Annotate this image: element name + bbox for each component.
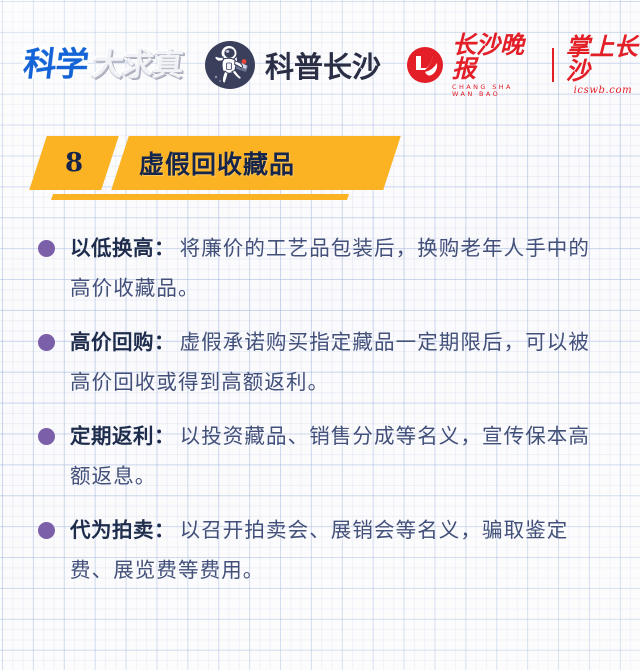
header-logo-bar: 科学 大求真 [0, 34, 640, 96]
list-item-colon: ： [154, 424, 176, 448]
app-url: icswb.com [574, 86, 633, 96]
astronaut-icon [203, 38, 257, 92]
logo-kexue-white-text: 大求真 [90, 39, 186, 84]
list-item-text: 代为拍卖：以召开拍卖会、展销会等名义，骗取鉴定费、展览费等费用。 [70, 518, 568, 582]
newspaper-pinyin: CHANG SHA WAN BAO [452, 84, 540, 97]
app-chinese-name: 掌上长沙 [566, 35, 640, 83]
list-item-colon: ： [154, 236, 176, 260]
page-title: 虚假回收藏品 [125, 136, 397, 190]
list-item-label: 代为拍卖 [70, 518, 154, 542]
bullet-dot-icon [38, 240, 55, 257]
logo-kexue-blue-text: 科学 [21, 37, 91, 85]
app-name-block: 掌上长沙 icswb.com [566, 35, 640, 96]
newspaper-chinese-name: 长沙晚报 [452, 33, 540, 81]
list-item: 定期返利：以投资藏品、销售分成等名义，宣传保本高额返息。 [0, 416, 640, 496]
logo-kexue-daqiuzhen: 科学 大求真 [24, 38, 183, 84]
list-item-text: 高价回购：虚假承诺购买指定藏品一定期限后，可以被高价回收或得到高额返利。 [70, 330, 590, 394]
changsha-wanbao-mark-icon [405, 45, 445, 85]
list-item-label: 高价回购 [70, 330, 154, 354]
list-item-text: 以低换高：将廉价的工艺品包装后，换购老年人手中的高价收藏品。 [70, 236, 590, 300]
tactics-list: 以低换高：将廉价的工艺品包装后，换购老年人手中的高价收藏品。 高价回购：虚假承诺… [0, 228, 640, 604]
list-item-label: 定期返利 [70, 424, 154, 448]
newspaper-name-block: 长沙晚报 CHANG SHA WAN BAO [452, 33, 540, 97]
bullet-dot-icon [38, 522, 55, 539]
logo-changsha-wanbao: 长沙晚报 CHANG SHA WAN BAO 掌上长沙 icswb.com [405, 40, 640, 90]
bullet-dot-icon [38, 428, 55, 445]
list-item: 高价回购：虚假承诺购买指定藏品一定期限后，可以被高价回收或得到高额返利。 [0, 322, 640, 402]
list-item: 以低换高：将廉价的工艺品包装后，换购老年人手中的高价收藏品。 [0, 228, 640, 308]
section-banner: 8 虚假回收藏品 [0, 136, 640, 212]
list-item-text: 定期返利：以投资藏品、销售分成等名义，宣传保本高额返息。 [70, 424, 590, 488]
list-item-colon: ： [154, 330, 176, 354]
logo-kepu-changsha: 科普长沙 [203, 36, 381, 94]
list-item-colon: ： [154, 518, 176, 542]
bullet-dot-icon [38, 334, 55, 351]
list-item: 代为拍卖：以召开拍卖会、展销会等名义，骗取鉴定费、展览费等费用。 [0, 510, 640, 590]
banner-number: 8 [38, 136, 110, 190]
infographic-page: 科学 大求真 [0, 0, 640, 670]
list-item-label: 以低换高 [70, 236, 154, 260]
logo-divider [552, 48, 554, 82]
logo-kepu-label: 科普长沙 [265, 44, 381, 86]
banner-underline [51, 194, 349, 200]
